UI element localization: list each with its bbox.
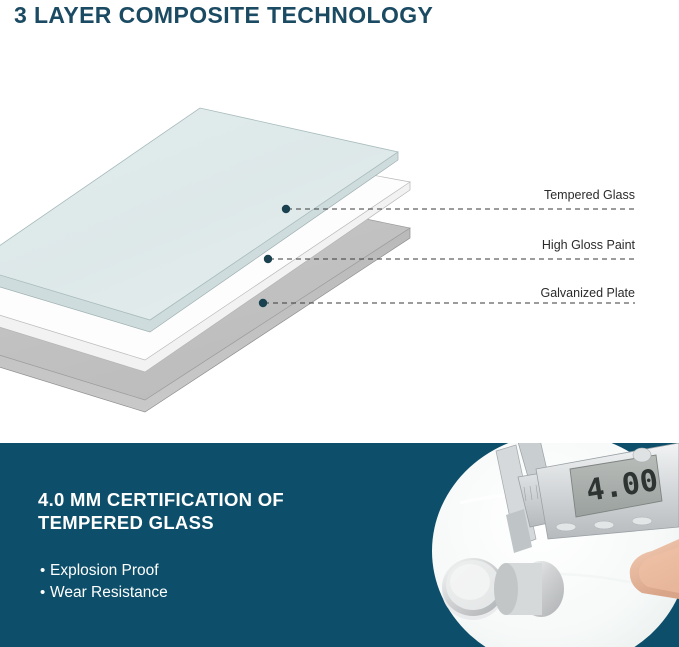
leader-dot-high-gloss-paint (264, 255, 272, 263)
feature-list: • Explosion Proof • Wear Resistance (40, 560, 380, 604)
leader-dot-galvanized-plate (259, 299, 267, 307)
list-item: • Explosion Proof (40, 560, 380, 582)
layer-label-tempered-glass: Tempered Glass (375, 188, 635, 202)
banner-title-line-1: 4.0 MM CERTIFICATION OF (38, 488, 378, 511)
banner-title: 4.0 MM CERTIFICATION OF TEMPERED GLASS (38, 488, 378, 535)
feature-label: Wear Resistance (50, 582, 168, 604)
banner-title-line-2: TEMPERED GLASS (38, 511, 378, 534)
caliper-measuring-glass-panel-photo: 4.00 (420, 443, 679, 647)
layer-label-galvanized-plate: Galvanized Plate (375, 286, 635, 300)
leader-dot-tempered-glass (282, 205, 290, 213)
layer-label-high-gloss-paint: High Gloss Paint (375, 238, 635, 252)
page-title: 3 LAYER COMPOSITE TECHNOLOGY (14, 0, 574, 30)
certification-banner: 4.0 MM CERTIFICATION OF TEMPERED GLASS •… (0, 443, 679, 647)
bullet-icon: • (40, 560, 50, 581)
infographic-page: 3 LAYER COMPOSITE TECHNOLOGY (0, 0, 679, 647)
feature-label: Explosion Proof (50, 560, 159, 582)
bullet-icon: • (40, 582, 50, 603)
list-item: • Wear Resistance (40, 582, 380, 604)
